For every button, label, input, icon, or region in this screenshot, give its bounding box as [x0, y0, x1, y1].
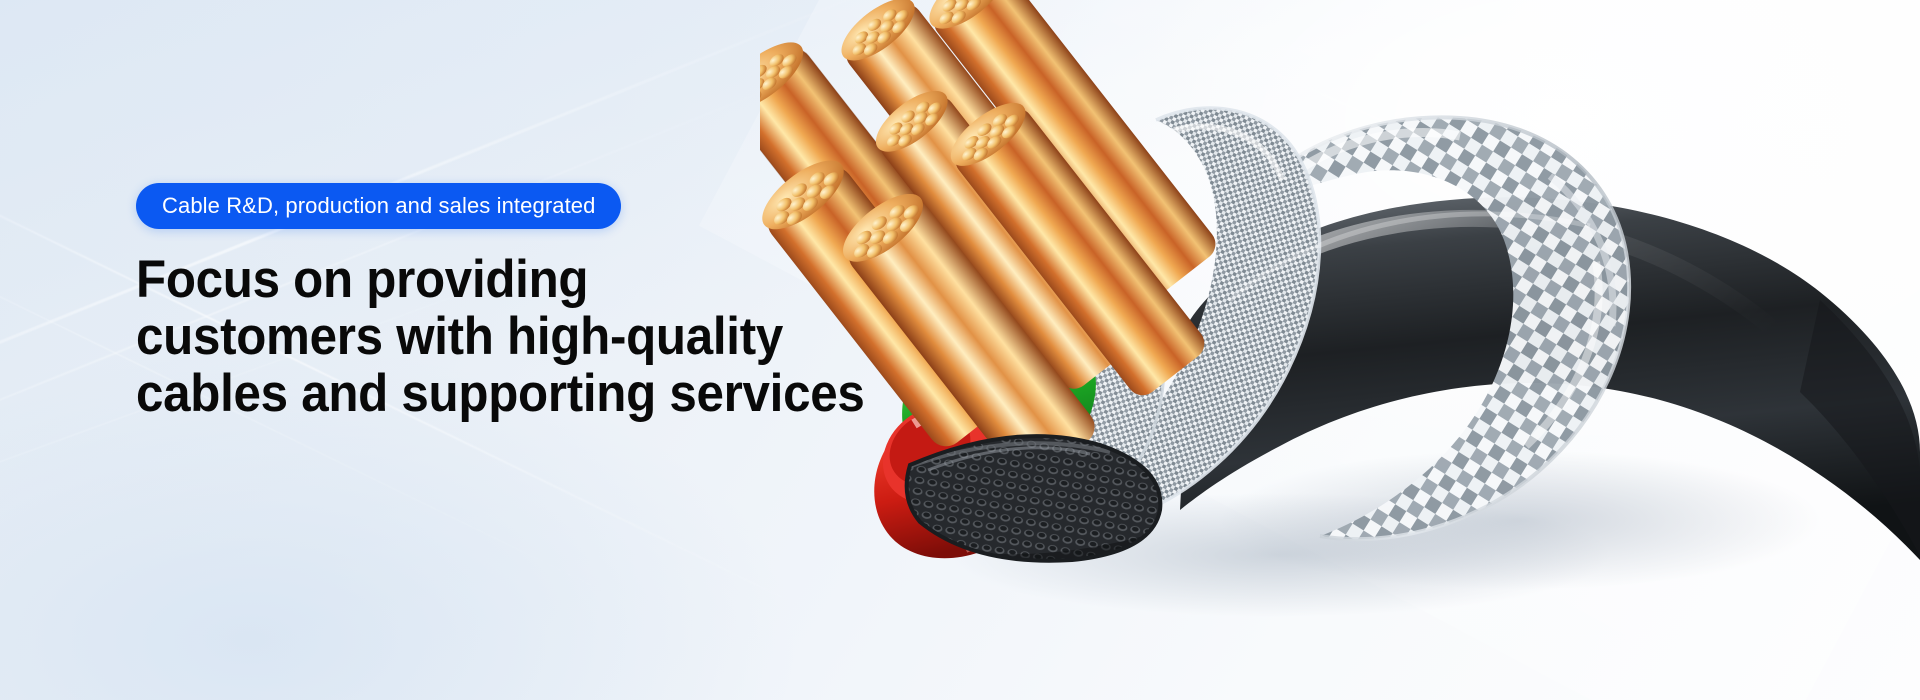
- tagline-badge[interactable]: Cable R&D, production and sales integrat…: [136, 183, 621, 229]
- page-title: Focus on providing customers with high-q…: [136, 251, 865, 423]
- headline-line-2: customers with high-quality: [136, 308, 865, 365]
- hero-banner: Cable R&D, production and sales integrat…: [0, 0, 1920, 700]
- cable-illustration: [760, 0, 1920, 700]
- headline-line-3: cables and supporting services: [136, 365, 865, 422]
- headline-line-1: Focus on providing: [136, 251, 865, 308]
- hero-copy-block: Cable R&D, production and sales integrat…: [136, 183, 919, 423]
